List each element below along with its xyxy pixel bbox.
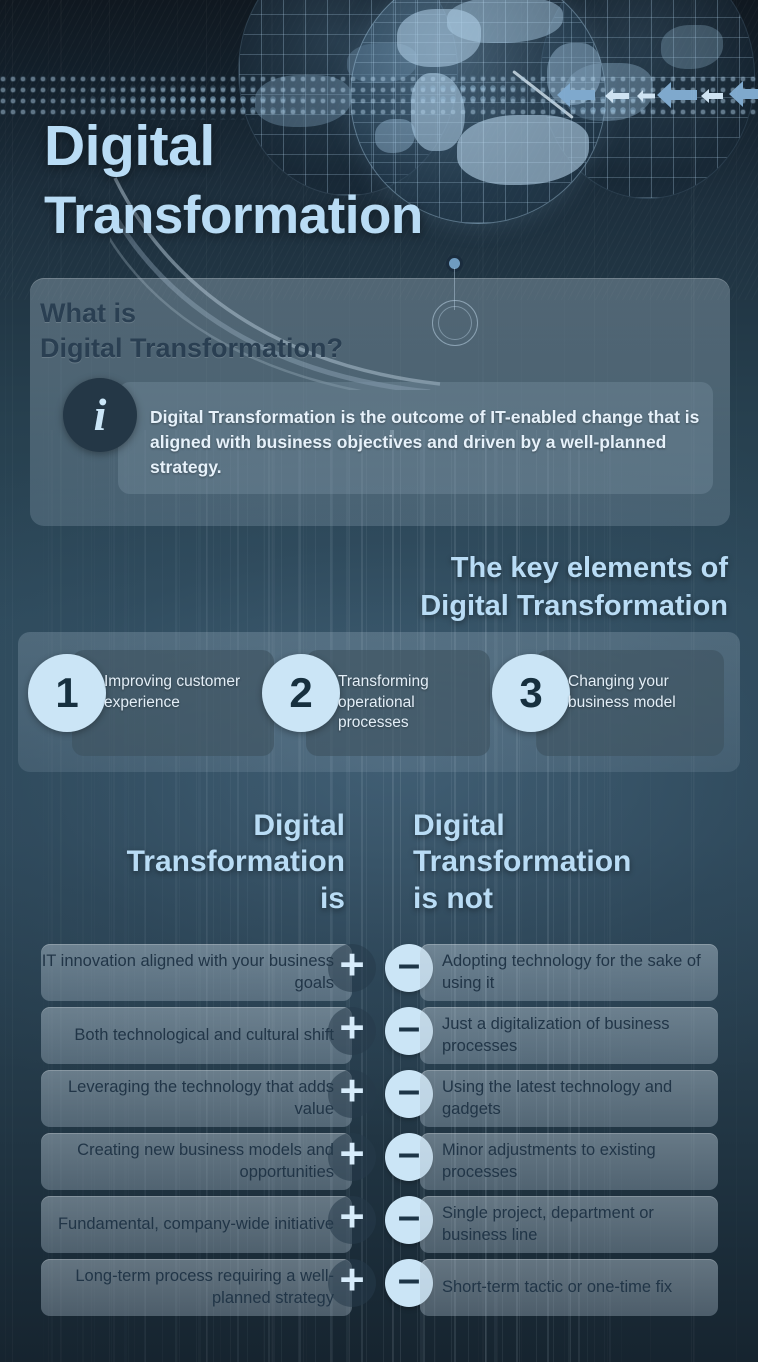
key-element-item: 3 Changing your business model: [492, 650, 724, 756]
plus-circle-icon: +: [328, 1133, 376, 1181]
comparison-row: Fundamental, company-wide initiative + –…: [0, 1196, 758, 1259]
info-icon: i: [63, 378, 137, 452]
key-element-label: Improving customer experience: [104, 672, 244, 713]
what-is-body-text: Digital Transformation is the outcome of…: [150, 405, 702, 480]
key-element-number: 3: [492, 654, 570, 732]
comparison-is-pill: Both technological and cultural shift: [41, 1007, 352, 1064]
comparison-is-pill: IT innovation aligned with your business…: [41, 944, 352, 1001]
key-element-item: 1 Improving customer experience: [28, 650, 274, 756]
plus-circle-icon: +: [328, 1259, 376, 1307]
comparison-is-pill: Creating new business models and opportu…: [41, 1133, 352, 1190]
comparison-is-not-pill: Using the latest technology and gadgets: [420, 1070, 718, 1127]
comparison-rows: IT innovation aligned with your business…: [0, 944, 758, 1322]
poster-title: Digital Transformation: [44, 118, 423, 242]
comparison-is-not-pill: Short-term tactic or one-time fix: [420, 1259, 718, 1316]
comparison-heading-is-not: Digital Transformation is not: [413, 808, 713, 917]
key-element-label: Transforming operational processes: [338, 672, 478, 734]
poster-title-line2: Transformation: [44, 189, 423, 242]
comparison-row: IT innovation aligned with your business…: [0, 944, 758, 1007]
key-elements-heading-line1: The key elements of: [108, 550, 728, 588]
comparison-heading-is-not-line3: is not: [413, 881, 713, 917]
key-element-number: 2: [262, 654, 340, 732]
plus-circle-icon: +: [328, 1007, 376, 1055]
comparison-is-not-pill: Adopting technology for the sake of usin…: [420, 944, 718, 1001]
comparison-is-pill: Long-term process requiring a well-plann…: [41, 1259, 352, 1316]
comparison-heading-is-not-line1: Digital: [413, 808, 713, 844]
plus-circle-icon: +: [328, 944, 376, 992]
key-element-number: 1: [28, 654, 106, 732]
info-icon-glyph: i: [94, 392, 107, 438]
comparison-is-not-pill: Just a digitalization of business proces…: [420, 1007, 718, 1064]
infographic-poster: Digital Transformation What is Digital T…: [0, 0, 758, 1362]
comparison-heading-is-not-line2: Transformation: [413, 844, 713, 880]
key-element-label: Changing your business model: [568, 672, 718, 713]
plus-circle-icon: +: [328, 1070, 376, 1118]
comparison-row: Both technological and cultural shift + …: [0, 1007, 758, 1070]
comparison-row: Leveraging the technology that adds valu…: [0, 1070, 758, 1133]
what-is-heading-line1: What is: [40, 296, 343, 331]
comparison-is-not-pill: Single project, department or business l…: [420, 1196, 718, 1253]
comparison-heading-is-line1: Digital: [60, 808, 345, 844]
comparison-is-not-pill: Minor adjustments to existing processes: [420, 1133, 718, 1190]
poster-title-line1: Digital: [44, 114, 215, 178]
comparison-row: Creating new business models and opportu…: [0, 1133, 758, 1196]
key-elements-heading-line2: Digital Transformation: [108, 588, 728, 626]
what-is-heading: What is Digital Transformation?: [40, 296, 343, 365]
what-is-heading-line2: Digital Transformation?: [40, 331, 343, 366]
comparison-heading-is-line2: Transformation: [60, 844, 345, 880]
comparison-heading-is: Digital Transformation is: [60, 808, 345, 917]
comparison-row: Long-term process requiring a well-plann…: [0, 1259, 758, 1322]
key-element-item: 2 Transforming operational processes: [262, 650, 490, 756]
key-elements-heading: The key elements of Digital Transformati…: [108, 550, 728, 625]
comparison-heading-is-line3: is: [60, 881, 345, 917]
plus-circle-icon: +: [328, 1196, 376, 1244]
comparison-is-pill: Leveraging the technology that adds valu…: [41, 1070, 352, 1127]
comparison-is-pill: Fundamental, company-wide initiative: [41, 1196, 352, 1253]
